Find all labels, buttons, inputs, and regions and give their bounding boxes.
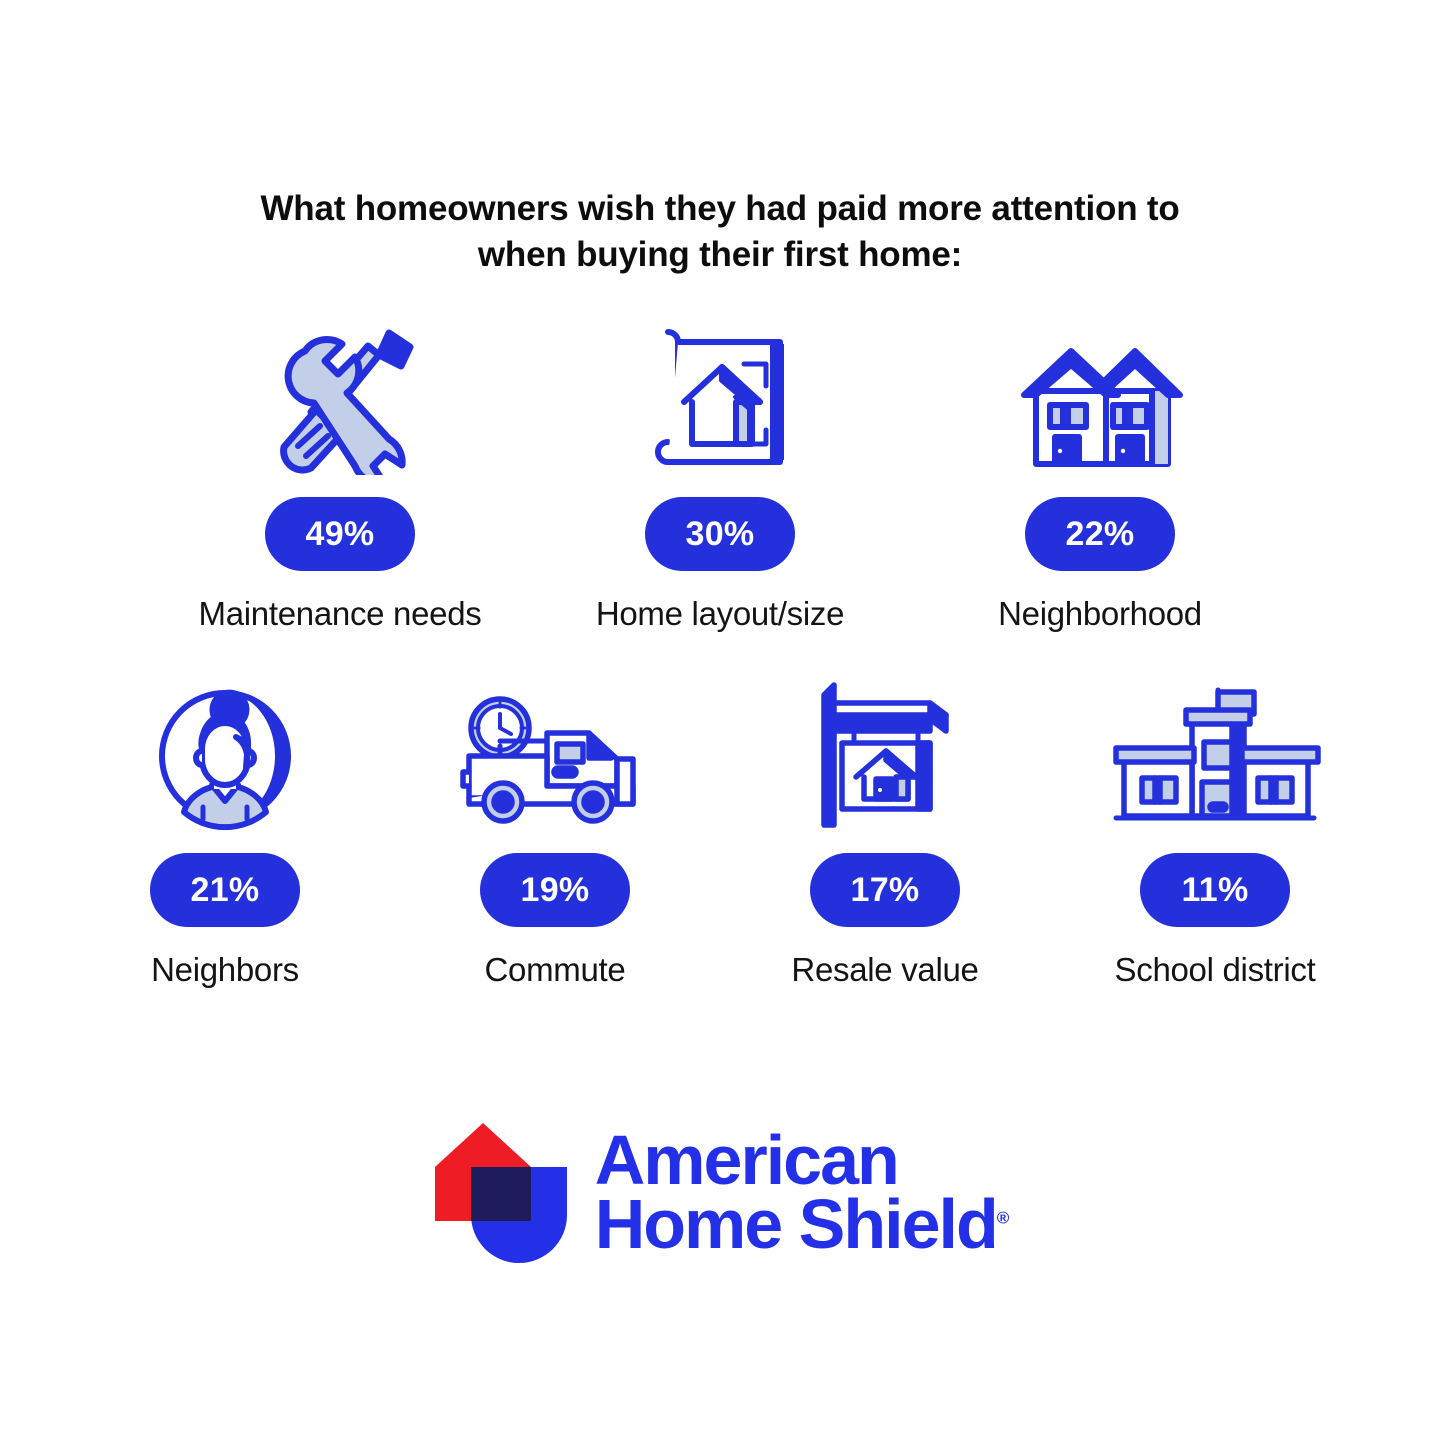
logo-line-american: American <box>595 1128 1010 1192</box>
two-houses-icon <box>1018 315 1183 475</box>
registered-trademark-icon: ® <box>997 1209 1010 1228</box>
stat-label: Maintenance needs <box>199 595 482 633</box>
stats-row-1: 49% Maintenance needs <box>80 315 1360 633</box>
person-avatar-icon <box>150 671 300 831</box>
stat-card-commute: 19% Commute <box>420 671 690 989</box>
blueprint-icon <box>640 315 800 475</box>
logo-wordmark: American Home Shield® <box>595 1128 1010 1257</box>
stat-label: Home layout/size <box>596 595 844 633</box>
stat-card-neighborhood: 22% Neighborhood <box>965 315 1235 633</box>
stat-label: Resale value <box>791 951 978 989</box>
stat-card-maintenance-needs: 49% Maintenance needs <box>205 315 475 633</box>
stat-card-home-layout-size: 30% Home layout/size <box>585 315 855 633</box>
stat-badge-percent: 21% <box>150 853 300 927</box>
stat-label: Commute <box>485 951 626 989</box>
stat-label: School district <box>1115 951 1316 989</box>
stat-card-neighbors: 21% Neighbors <box>90 671 360 989</box>
page-title: What homeowners wish they had paid more … <box>200 186 1240 277</box>
stat-badge-percent: 17% <box>810 853 960 927</box>
stat-label: Neighborhood <box>998 595 1202 633</box>
title-line-2: when buying their first home: <box>200 232 1240 278</box>
stat-badge-percent: 22% <box>1025 497 1175 571</box>
american-home-shield-logo-mark <box>431 1117 571 1267</box>
stat-badge-percent: 19% <box>480 853 630 927</box>
logo-line-home-shield: Home Shield® <box>595 1192 1010 1256</box>
stat-card-school-district: 11% School district <box>1080 671 1350 989</box>
title-line-1: What homeowners wish they had paid more … <box>200 186 1240 232</box>
stats-grid: 49% Maintenance needs <box>80 315 1360 989</box>
logo-line-home-shield-text: Home Shield <box>595 1185 997 1263</box>
school-building-icon <box>1108 671 1323 831</box>
real-estate-sign-icon <box>808 671 963 831</box>
wrench-screwdriver-icon <box>258 315 423 475</box>
american-home-shield-logo: American Home Shield® <box>431 1117 1010 1267</box>
stat-badge-percent: 49% <box>265 497 415 571</box>
pickup-truck-clock-icon <box>455 671 655 831</box>
stat-card-resale-value: 17% Resale value <box>750 671 1020 989</box>
stats-row-2: 21% Neighbors <box>80 671 1360 989</box>
stat-badge-percent: 11% <box>1140 853 1290 927</box>
stat-badge-percent: 30% <box>645 497 795 571</box>
infographic-root: What homeowners wish they had paid more … <box>0 0 1440 1440</box>
stat-label: Neighbors <box>151 951 299 989</box>
